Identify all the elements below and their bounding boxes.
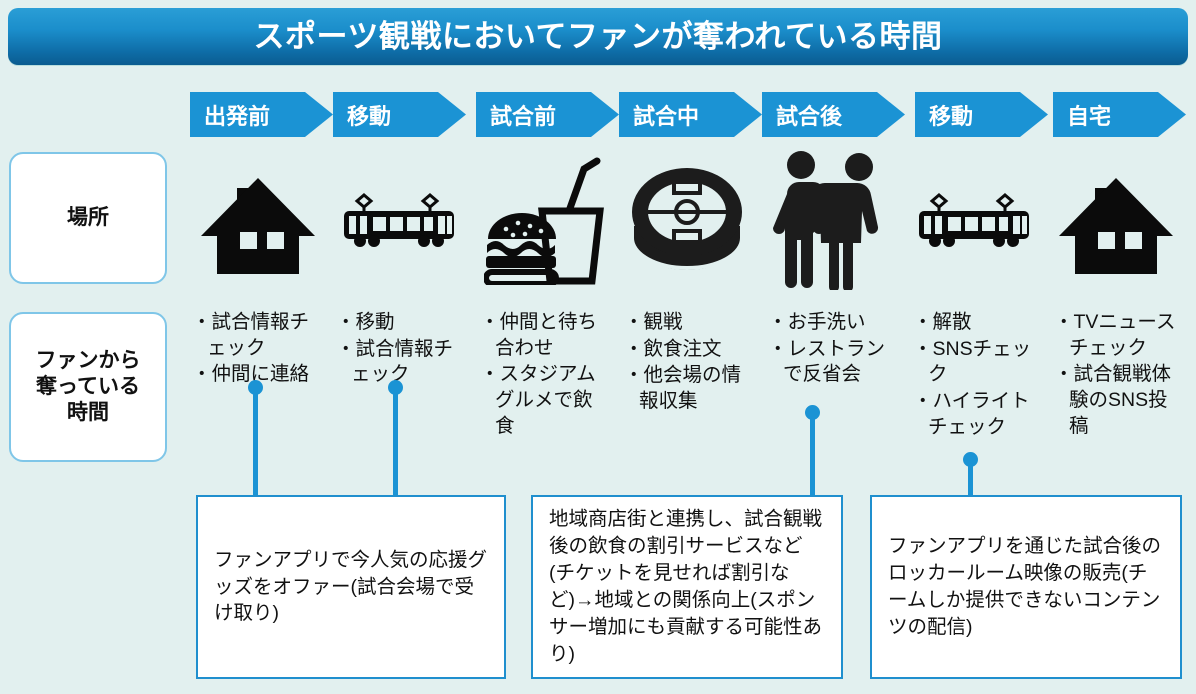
list-item: 観戦 (624, 310, 749, 336)
callout-box-local-shops: 地域商店街と連携し、試合観戦後の飲食の割引サービスなど(チケットを見せれば割引な… (531, 495, 843, 679)
stage-chevron-departure[interactable]: 出発前 (190, 92, 333, 137)
icon-cell-house-departure (193, 150, 323, 290)
house-icon (1057, 164, 1175, 276)
burger-drink-icon (484, 155, 604, 285)
list-item: 試合観戦体験のSNS投稿 (1054, 362, 1178, 439)
list-item: 飲食注文 (624, 337, 749, 363)
restroom-icon (768, 150, 892, 290)
stage-chevron-label: 自宅 (1067, 99, 1111, 131)
stage-chevron-during-match[interactable]: 試合中 (619, 92, 762, 137)
stadium-icon (626, 164, 748, 276)
icon-cell-house-home (1051, 150, 1181, 290)
stage-chevron-label: 試合前 (490, 99, 556, 131)
stage-chevron-label: 移動 (929, 99, 973, 131)
callout-box-fan-app-goods: ファンアプリで今人気の応援グッズをオファー(試合会場で受け取り) (196, 495, 506, 679)
row-label-place: 場所 (9, 152, 167, 284)
list-item: 解散 (913, 310, 1041, 336)
infographic-root: スポーツ観戦においてファンが奪われている時間 出発前 移動 試合前 試合中 試合… (0, 0, 1196, 694)
stage-chevron-prematch[interactable]: 試合前 (476, 92, 619, 137)
list-item: ハイライトチェック (913, 389, 1041, 440)
stage-chevron-label: 試合中 (633, 99, 699, 131)
bullet-list-during-match: 観戦 飲食注文 他会場の情報収集 (624, 310, 749, 416)
bullet-list-prematch: 仲間と待ち合わせ スタジアムグルメで飲食 (480, 310, 610, 441)
tram-icon (340, 189, 460, 251)
bullet-list-travel-out: 移動 試合情報チェック (336, 310, 461, 389)
bullet-list-home: TVニュースチェック 試合観戦体験のSNS投稿 (1054, 310, 1178, 441)
page-title-bar: スポーツ観戦においてファンが奪われている時間 (8, 8, 1188, 65)
stage-chevron-label: 移動 (347, 99, 391, 131)
stage-chevron-label: 出発前 (204, 99, 270, 131)
icon-cell-burger-drink-prematch (479, 150, 609, 290)
stage-chevron-postmatch[interactable]: 試合後 (762, 92, 905, 137)
list-item: お手洗い (768, 310, 896, 336)
list-item: レストランで反省会 (768, 337, 896, 388)
row-label-place-text: 場所 (67, 205, 109, 231)
icon-cell-tram-travel-home (912, 150, 1037, 290)
list-item: TVニュースチェック (1054, 310, 1178, 361)
bullet-list-travel-home: 解散 SNSチェック ハイライトチェック (913, 310, 1041, 442)
bullet-list-departure: 試合情報チェック 仲間に連絡 (192, 310, 320, 389)
connector-line-postmatch (810, 412, 815, 497)
tram-icon (915, 189, 1035, 251)
list-item: 他会場の情報収集 (624, 363, 749, 414)
stage-chevron-home[interactable]: 自宅 (1053, 92, 1186, 137)
list-item: 移動 (336, 310, 461, 336)
house-icon (199, 164, 317, 276)
stage-chevron-travel-out[interactable]: 移動 (333, 92, 466, 137)
callout-text: ファンアプリを通じた試合後のロッカールーム映像の販売(チームしか提供できないコン… (872, 533, 1180, 641)
row-label-time: ファンから奪っている時間 (9, 312, 167, 462)
icon-cell-stadium-during-match (622, 150, 752, 290)
connector-line-travel-out (393, 387, 398, 497)
callout-text: 地域商店街と連携し、試合観戦後の飲食の割引サービスなど(チケットを見せれば割引な… (533, 506, 841, 667)
connector-line-departure (253, 387, 258, 497)
stage-chevron-travel-home[interactable]: 移動 (915, 92, 1048, 137)
callout-text: ファンアプリで今人気の応援グッズをオファー(試合会場で受け取り) (198, 547, 504, 628)
list-item: SNSチェック (913, 337, 1041, 388)
callout-box-locker-room-video: ファンアプリを通じた試合後のロッカールーム映像の販売(チームしか提供できないコン… (870, 495, 1182, 679)
connector-line-travel-home (968, 459, 973, 497)
stage-chevron-label: 試合後 (776, 99, 842, 131)
icon-cell-restroom-postmatch (765, 150, 895, 290)
list-item: スタジアムグルメで飲食 (480, 362, 610, 439)
bullet-list-postmatch: お手洗い レストランで反省会 (768, 310, 896, 389)
row-label-time-text: ファンから奪っている時間 (36, 348, 141, 427)
page-title: スポーツ観戦においてファンが奪われている時間 (254, 21, 943, 52)
list-item: 試合情報チェック (192, 310, 320, 361)
icon-cell-tram-travel-out (337, 150, 462, 290)
list-item: 仲間と待ち合わせ (480, 310, 610, 361)
